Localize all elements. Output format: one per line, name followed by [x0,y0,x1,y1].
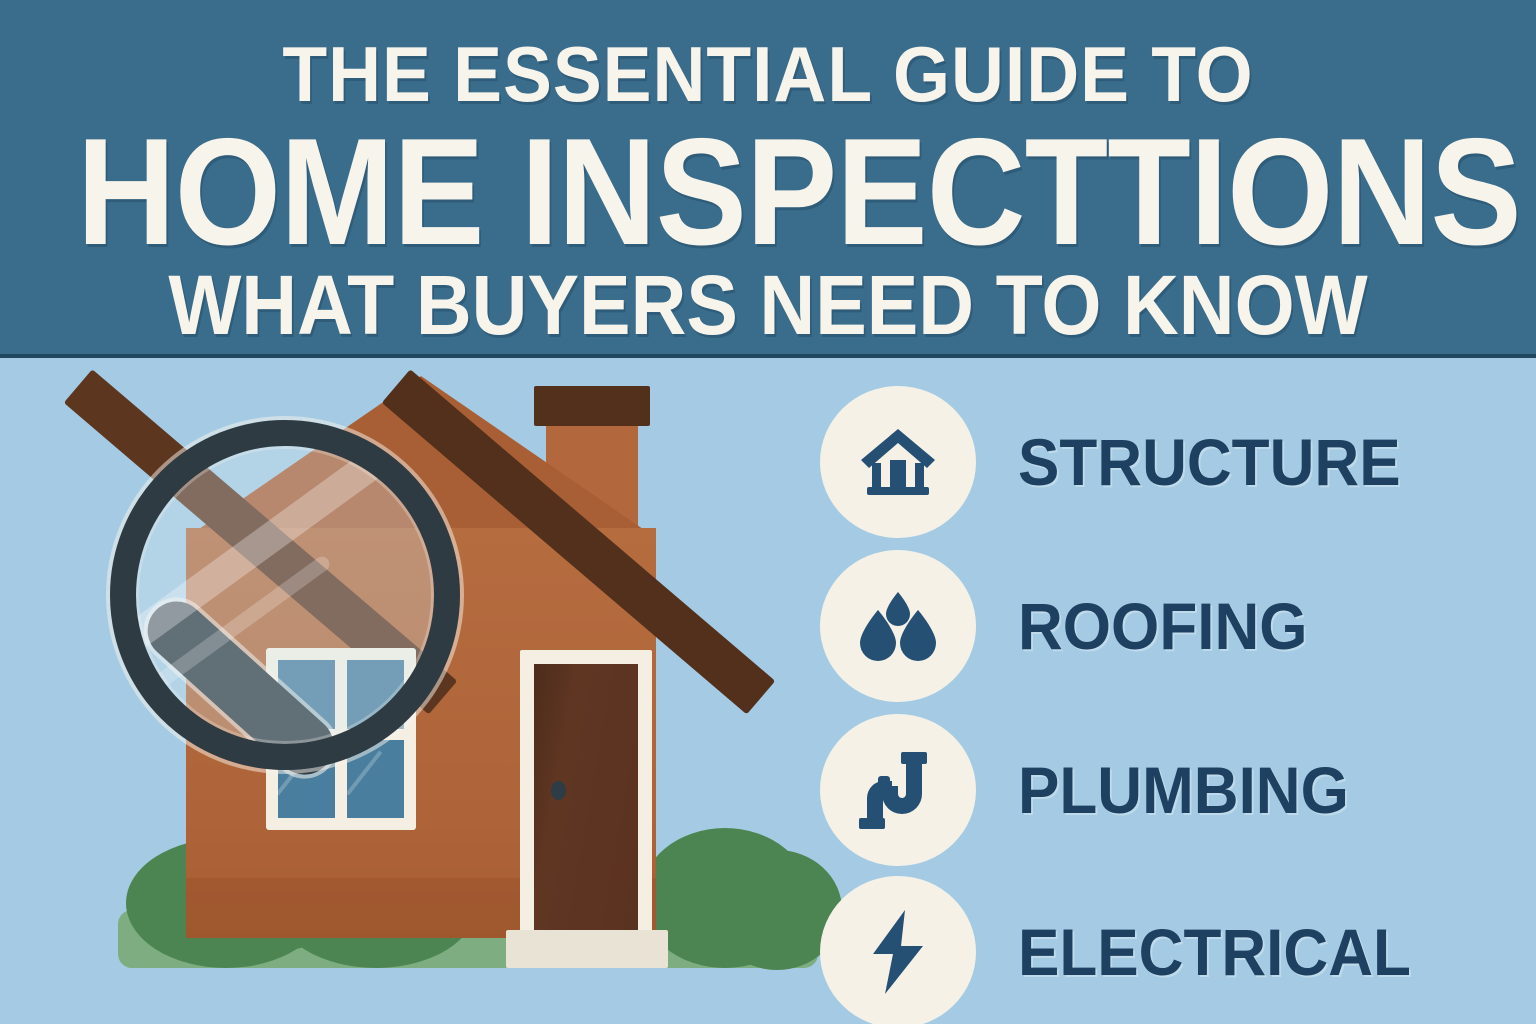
checklist-item-plumbing[interactable]: PLUMBING [820,710,1370,870]
lightning-bolt-icon [867,908,929,996]
magnifying-glass-icon [110,420,460,770]
checklist-label-electrical: ELECTRICAL [1018,919,1411,985]
icon-bubble-structure [820,386,976,538]
checklist-label-roofing: ROOFING [1018,593,1308,659]
window-glint-b [346,750,382,795]
checklist-item-electrical[interactable]: ELECTRICAL [820,872,1436,1024]
scene-area: STRUCTURE ROOFING [0,358,1536,1024]
checklist-label-structure: STRUCTURE [1018,429,1401,495]
checklist-item-structure[interactable]: STRUCTURE [820,382,1425,542]
door-step [506,930,668,968]
door-knob [551,781,566,800]
icon-bubble-roofing [820,550,976,702]
infographic-poster: THE ESSENTIAL GUIDE TO HOME INSPECTTIONS… [0,0,1536,1024]
front-door [534,664,638,936]
checklist-item-roofing[interactable]: ROOFING [820,546,1326,706]
header-band: THE ESSENTIAL GUIDE TO HOME INSPECTTIONS… [0,0,1536,356]
header-subtitle: WHAT BUYERS NEED TO KNOW [61,258,1474,352]
inspection-checklist: STRUCTURE ROOFING [820,368,1520,1018]
icon-bubble-plumbing [820,714,976,866]
water-droplets-icon [856,590,940,662]
icon-bubble-electrical [820,876,976,1024]
house-illustration [0,358,840,1024]
header-kicker: THE ESSENTIAL GUIDE TO [46,30,1490,118]
page-title: HOME INSPECTTIONS [77,112,1459,272]
checklist-label-plumbing: PLUMBING [1018,757,1349,823]
house-icon [859,427,937,497]
pipe-icon [857,750,939,830]
